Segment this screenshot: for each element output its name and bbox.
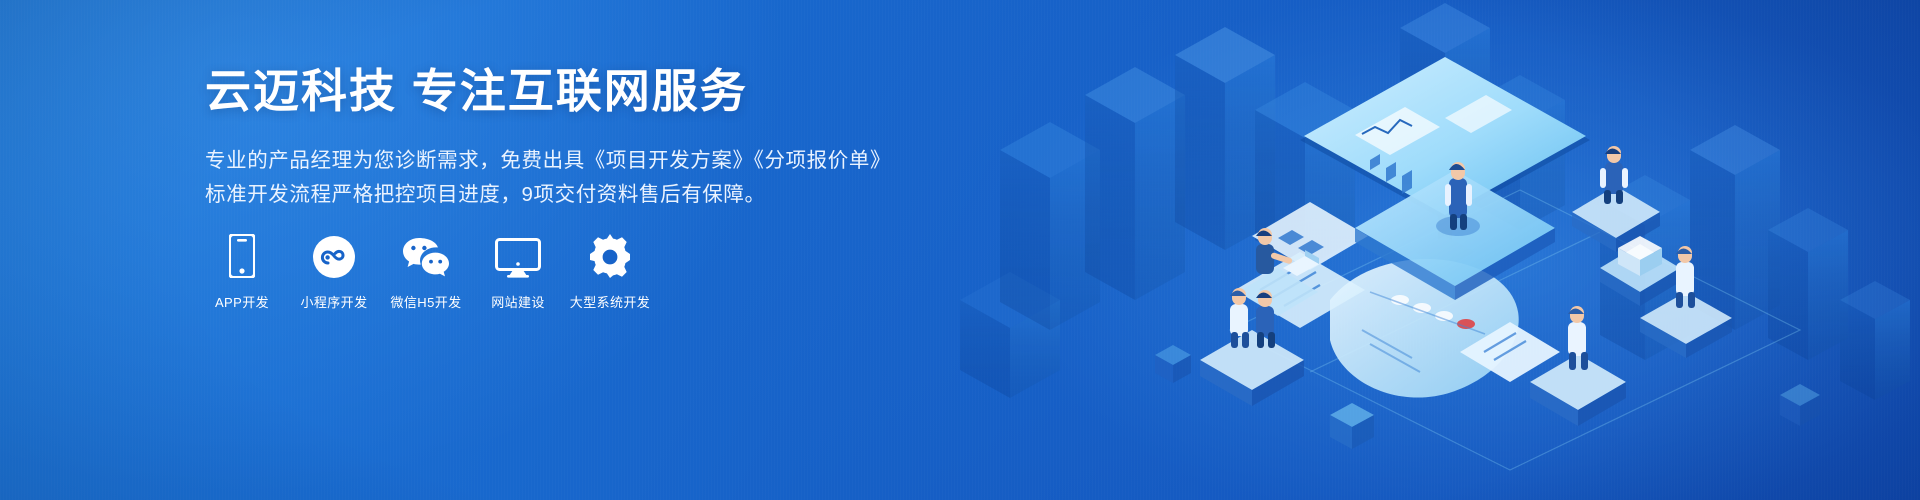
wechat-icon	[401, 232, 451, 278]
banner-copy: 云迈科技 专注互联网服务 专业的产品经理为您诊断需求，免费出具《项目开发方案》《…	[205, 66, 965, 212]
service-item-wechat-h5[interactable]: 微信H5开发	[389, 232, 463, 311]
mobile-phone-icon	[229, 232, 255, 278]
gear-icon	[588, 232, 632, 278]
banner-subtitle: 专业的产品经理为您诊断需求，免费出具《项目开发方案》《分项报价单》 标准开发流程…	[205, 144, 965, 212]
page-title: 云迈科技 专注互联网服务	[205, 66, 965, 118]
isometric-team-dashboard-illustration	[900, 0, 1920, 500]
service-item-website[interactable]: 网站建设	[481, 232, 555, 311]
service-item-app[interactable]: APP开发	[205, 232, 279, 311]
mini-program-icon	[313, 232, 355, 278]
service-label: 网站建设	[491, 292, 545, 311]
subtitle-line-2: 标准开发流程严格把控项目进度，9项交付资料售后有保障。	[205, 178, 965, 212]
service-label: 大型系统开发	[570, 292, 650, 311]
service-label: APP开发	[215, 292, 269, 311]
service-icon-list: APP开发 小程序开发	[205, 232, 665, 311]
hero-banner: 云迈科技 专注互联网服务 专业的产品经理为您诊断需求，免费出具《项目开发方案》《…	[0, 0, 1920, 500]
service-label: 微信H5开发	[390, 292, 461, 311]
service-item-large-system[interactable]: 大型系统开发	[573, 232, 647, 311]
monitor-icon	[495, 232, 541, 278]
service-label: 小程序开发	[300, 292, 367, 311]
service-item-miniprogram[interactable]: 小程序开发	[297, 232, 371, 311]
subtitle-line-1: 专业的产品经理为您诊断需求，免费出具《项目开发方案》《分项报价单》	[205, 149, 891, 172]
